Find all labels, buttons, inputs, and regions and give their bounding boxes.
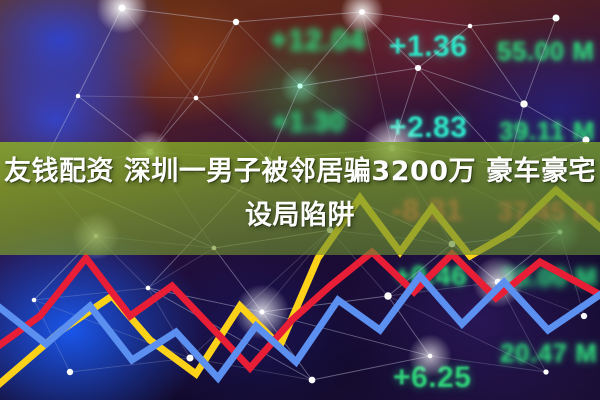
vignette-overlay — [0, 0, 600, 400]
news-thumbnail-banner: +12.04+1.3655.00 M+1.30+2.8339.11 M-8.81… — [0, 0, 600, 400]
